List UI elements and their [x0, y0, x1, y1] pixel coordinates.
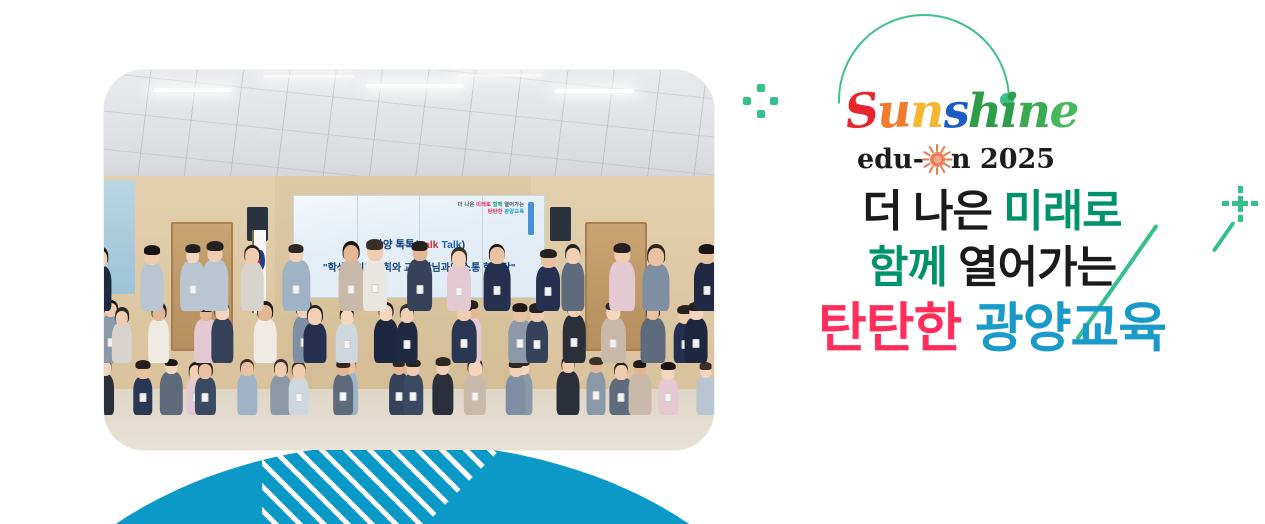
sun-ray [936, 144, 938, 152]
person-body [696, 376, 714, 415]
person-head [452, 251, 466, 267]
person [464, 361, 486, 415]
name-badge [410, 392, 417, 401]
person-body [628, 374, 651, 415]
headline-1-part-2: 미래로 [1003, 187, 1121, 236]
person [133, 363, 152, 415]
person [587, 359, 606, 414]
person-head [116, 311, 128, 325]
person-head [344, 245, 359, 262]
name-badge [610, 339, 617, 348]
white-diagonal-stripes [262, 443, 587, 524]
sunshine-tagline: edu- n 2025 [857, 144, 1055, 175]
person [202, 245, 227, 312]
name-badge [494, 286, 501, 295]
headline-3-part-1: 탄탄한 [818, 299, 975, 358]
person-body [374, 319, 398, 363]
person-hair [614, 243, 631, 253]
name-badge [545, 287, 552, 296]
headline-1-part-1: 더 나은 [862, 187, 1003, 236]
person-body [561, 262, 584, 312]
sun-ray [922, 159, 930, 161]
person-hair [411, 241, 428, 251]
headline-3-part-2: 광양교육 [975, 299, 1166, 358]
person-hair [185, 244, 200, 253]
conference-room-photo: 더 나은 미래로 함께 열어가는 탄탄한 광양교육 광양 톡톡(Talk Tal… [104, 70, 714, 450]
plus-segment [1251, 201, 1258, 206]
person-body [241, 262, 264, 311]
student-group [104, 184, 714, 420]
plus-segment [1232, 201, 1248, 206]
person-body [212, 318, 233, 363]
person [563, 303, 586, 363]
person-head [199, 364, 212, 379]
ceiling-light [262, 75, 354, 78]
name-badge [403, 340, 410, 349]
name-badge [395, 392, 402, 401]
person-hair [144, 245, 160, 254]
person-head [490, 247, 504, 264]
person [561, 248, 584, 311]
plus-segment [1238, 215, 1243, 222]
person [694, 247, 714, 311]
person [148, 306, 170, 363]
person-body [505, 375, 526, 415]
name-badge [455, 287, 462, 296]
person-body [140, 263, 163, 311]
sun-ray [929, 146, 935, 154]
person [112, 311, 132, 363]
sunshine-letter-n: n [910, 88, 943, 135]
person-body [432, 373, 453, 415]
right-content-panel: Sunshine edu- n 2025 더 나은 미래로 함께 열어가는 탄탄… [735, 0, 1265, 524]
tagline-prefix: edu- [857, 144, 924, 175]
person [505, 363, 526, 415]
person-body [112, 323, 132, 363]
person [237, 362, 256, 415]
person [339, 245, 364, 311]
person [447, 251, 471, 311]
person [397, 308, 418, 363]
green-dashed-plus-icon [1222, 186, 1258, 222]
name-badge [340, 392, 347, 401]
sunshine-letter-s: S [843, 86, 880, 136]
sunshine-letter-n2: n [1017, 88, 1050, 135]
person [404, 362, 424, 415]
person [628, 362, 651, 415]
sunshine-wordmark: Sunshine [845, 88, 1078, 135]
tagline-suffix: n 2025 [951, 144, 1055, 175]
sunshine-letter-i: i [1000, 88, 1016, 135]
name-badge [472, 392, 479, 401]
name-badge [416, 285, 423, 294]
person [432, 360, 453, 415]
person [640, 305, 665, 363]
person-body [557, 371, 580, 415]
person [685, 305, 708, 363]
person-body [160, 372, 182, 415]
person-hair [435, 357, 450, 366]
dot [757, 110, 765, 118]
name-badge [202, 393, 209, 402]
plus-segment [1238, 186, 1243, 193]
name-badge [189, 285, 196, 294]
name-badge [139, 393, 146, 402]
headline-line-2: 함께 열어가는 [757, 246, 1227, 290]
name-badge [693, 339, 700, 348]
name-badge [704, 286, 711, 295]
ceiling-light [366, 84, 464, 88]
person [195, 364, 215, 415]
person [180, 247, 206, 311]
person [104, 250, 111, 311]
person-body [642, 264, 669, 311]
person [288, 365, 309, 415]
person [374, 305, 398, 363]
person [609, 246, 635, 311]
person [104, 360, 114, 415]
headline-line-3: 탄탄한 광양교육 [757, 302, 1227, 355]
name-badge [371, 284, 378, 293]
person-body [202, 260, 227, 312]
person [696, 365, 714, 415]
person-body [237, 374, 256, 414]
sun-ray [923, 151, 931, 157]
person [526, 307, 548, 364]
ceiling [104, 70, 714, 188]
person-head [340, 310, 353, 325]
person [557, 359, 580, 415]
person-head [245, 248, 259, 264]
person [333, 362, 353, 415]
person [363, 243, 387, 311]
person-head [292, 364, 305, 379]
sun-ray [943, 151, 951, 157]
ceiling-light [458, 74, 544, 77]
person-hair [207, 241, 224, 251]
sun-ray [943, 162, 951, 168]
promo-banner: 더 나은 미래로 함께 열어가는 탄탄한 광양교육 광양 톡톡(Talk Tal… [0, 0, 1265, 524]
person-body [104, 374, 114, 415]
event-photo-card[interactable]: 더 나은 미래로 함께 열어가는 탄탄한 광양교육 광양 톡톡(Talk Tal… [104, 70, 714, 450]
sunshine-letter-s2: s [941, 87, 969, 136]
name-badge [348, 285, 355, 294]
person-body [303, 323, 326, 363]
person-body [609, 261, 635, 311]
sunshine-logo: Sunshine edu- n 2025 [845, 88, 1085, 180]
person-body [254, 319, 277, 363]
person-hair [366, 239, 384, 249]
person [452, 305, 477, 363]
person-body [640, 318, 665, 363]
person [658, 365, 677, 415]
person-hair [699, 244, 714, 254]
person [212, 305, 233, 363]
dot [743, 97, 751, 105]
name-badge [343, 340, 350, 349]
dot [770, 97, 778, 105]
person [642, 248, 669, 311]
name-badge [533, 340, 540, 349]
ceiling-light [555, 89, 635, 93]
name-badge [461, 339, 468, 348]
person [336, 310, 359, 363]
person [160, 361, 182, 415]
name-badge [295, 393, 302, 402]
name-badge [293, 285, 300, 294]
person [407, 244, 433, 311]
ceiling-light [152, 88, 232, 92]
name-badge [665, 393, 672, 402]
person-body [104, 266, 111, 312]
person [140, 249, 163, 312]
person [283, 247, 310, 311]
person-head [566, 248, 580, 264]
green-dot-diamond [743, 84, 779, 120]
name-badge [593, 391, 600, 400]
name-badge [517, 339, 524, 348]
person [536, 252, 560, 311]
sun-ray [940, 165, 946, 173]
person-hair [699, 362, 712, 370]
person-body [148, 319, 170, 363]
person [254, 305, 277, 363]
headline-block: 더 나은 미래로 함께 열어가는 탄탄한 광양교육 [757, 190, 1227, 355]
person-head [615, 365, 628, 380]
sun-ray [929, 165, 935, 173]
sun-ray [945, 159, 953, 161]
dot [757, 84, 765, 92]
headline-line-1: 더 나은 미래로 [757, 190, 1227, 234]
name-badge [618, 393, 625, 402]
person [303, 308, 326, 363]
person [601, 305, 625, 363]
sunshine-letter-h: h [968, 88, 1001, 135]
person [241, 248, 264, 311]
person-hair [289, 244, 304, 253]
person [484, 248, 511, 312]
sun-icon [923, 145, 952, 174]
person-head [648, 248, 664, 266]
sun-ray [936, 167, 938, 175]
headline-2-part-1: 함께 [868, 243, 958, 292]
person-hair [661, 362, 676, 371]
person-hair [540, 249, 556, 259]
headline-2-part-2: 열어가는 [958, 243, 1116, 292]
sunshine-letter-u: u [876, 87, 911, 136]
name-badge [571, 338, 578, 347]
sunshine-letter-e: e [1049, 88, 1077, 135]
